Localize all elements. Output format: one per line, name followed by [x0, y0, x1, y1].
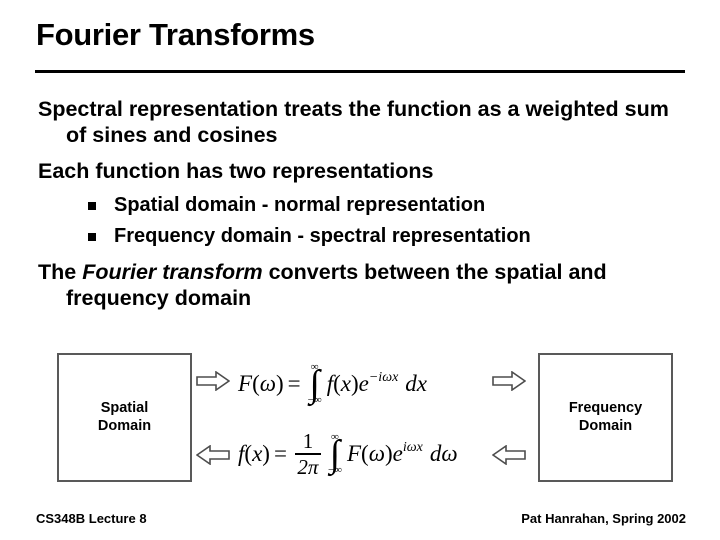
sub-bullet-text: Spatial domain - normal representation	[114, 194, 485, 216]
formula-equals: =	[270, 441, 291, 467]
footer-author-label: Pat Hanrahan, Spring 2002	[521, 511, 686, 526]
formula-lhs-variable: x	[252, 441, 262, 467]
differential: dx	[398, 371, 427, 397]
exponential-power: −iωx	[369, 370, 398, 386]
page-title: Fourier Transforms	[36, 18, 315, 52]
formula-lhs-function: F	[238, 371, 252, 397]
integrand-function: F	[343, 441, 361, 467]
differential: dω	[423, 441, 458, 467]
spatial-domain-label-line1: Spatial	[98, 400, 151, 417]
spatial-domain-label-line2: Domain	[98, 418, 151, 435]
hollow-right-arrow-icon	[492, 371, 526, 391]
exponential-base: e	[359, 371, 369, 397]
integrand-variable: x	[341, 371, 351, 397]
title-divider	[35, 70, 685, 73]
integral-symbol: ∞ ∫ −∞	[328, 432, 342, 476]
integrand-function: f	[323, 371, 333, 397]
bullet-item: Spectral representation treats the funct…	[38, 96, 688, 149]
frequency-domain-label-line2: Domain	[569, 418, 642, 435]
formula-lhs-variable: ω	[260, 371, 276, 397]
sub-bullet-item: Spatial domain - normal representation	[38, 193, 688, 218]
formula-equals: =	[284, 371, 305, 397]
square-bullet-icon	[88, 233, 96, 241]
fraction-one-over-two-pi: 1 2π	[295, 430, 321, 478]
bullet-item: Each function has two representations	[38, 158, 688, 184]
sub-bullet-list: Spatial domain - normal representation F…	[38, 193, 688, 248]
integrand-variable: ω	[369, 441, 385, 467]
integral-lower-limit: −∞	[308, 395, 322, 406]
fraction-denominator: 2π	[297, 456, 318, 478]
bullet-text-emphasis: Fourier transform	[82, 260, 262, 284]
spatial-domain-box: Spatial Domain	[57, 353, 192, 482]
bullet-text: Each function has two representations	[38, 159, 433, 183]
integral-lower-limit: −∞	[328, 465, 342, 476]
hollow-left-arrow-icon	[196, 445, 230, 465]
sub-bullet-text: Frequency domain - spectral representati…	[114, 225, 531, 247]
exponential-power: iωx	[403, 440, 423, 456]
bullet-item: The Fourier transform converts between t…	[38, 259, 688, 312]
hollow-right-arrow-icon	[196, 371, 230, 391]
frequency-domain-label-line1: Frequency	[569, 400, 642, 417]
bullet-text-prefix: The	[38, 260, 82, 284]
footer-course-label: CS348B Lecture 8	[36, 511, 147, 526]
bullet-text: Spectral representation treats the funct…	[38, 97, 669, 147]
forward-transform-formula: F(ω) = ∞ ∫ −∞ f(x)e−iωx dx	[238, 362, 427, 406]
square-bullet-icon	[88, 202, 96, 210]
frequency-domain-box: Frequency Domain	[538, 353, 673, 482]
hollow-left-arrow-icon	[492, 445, 526, 465]
exponential-base: e	[393, 441, 403, 467]
slide-body: Spectral representation treats the funct…	[38, 96, 688, 321]
sub-bullet-item: Frequency domain - spectral representati…	[38, 224, 688, 249]
integral-symbol: ∞ ∫ −∞	[308, 362, 322, 406]
inverse-transform-formula: f(x) = 1 2π ∞ ∫ −∞ F(ω)eiωx dω	[238, 430, 458, 478]
fraction-numerator: 1	[303, 430, 314, 452]
